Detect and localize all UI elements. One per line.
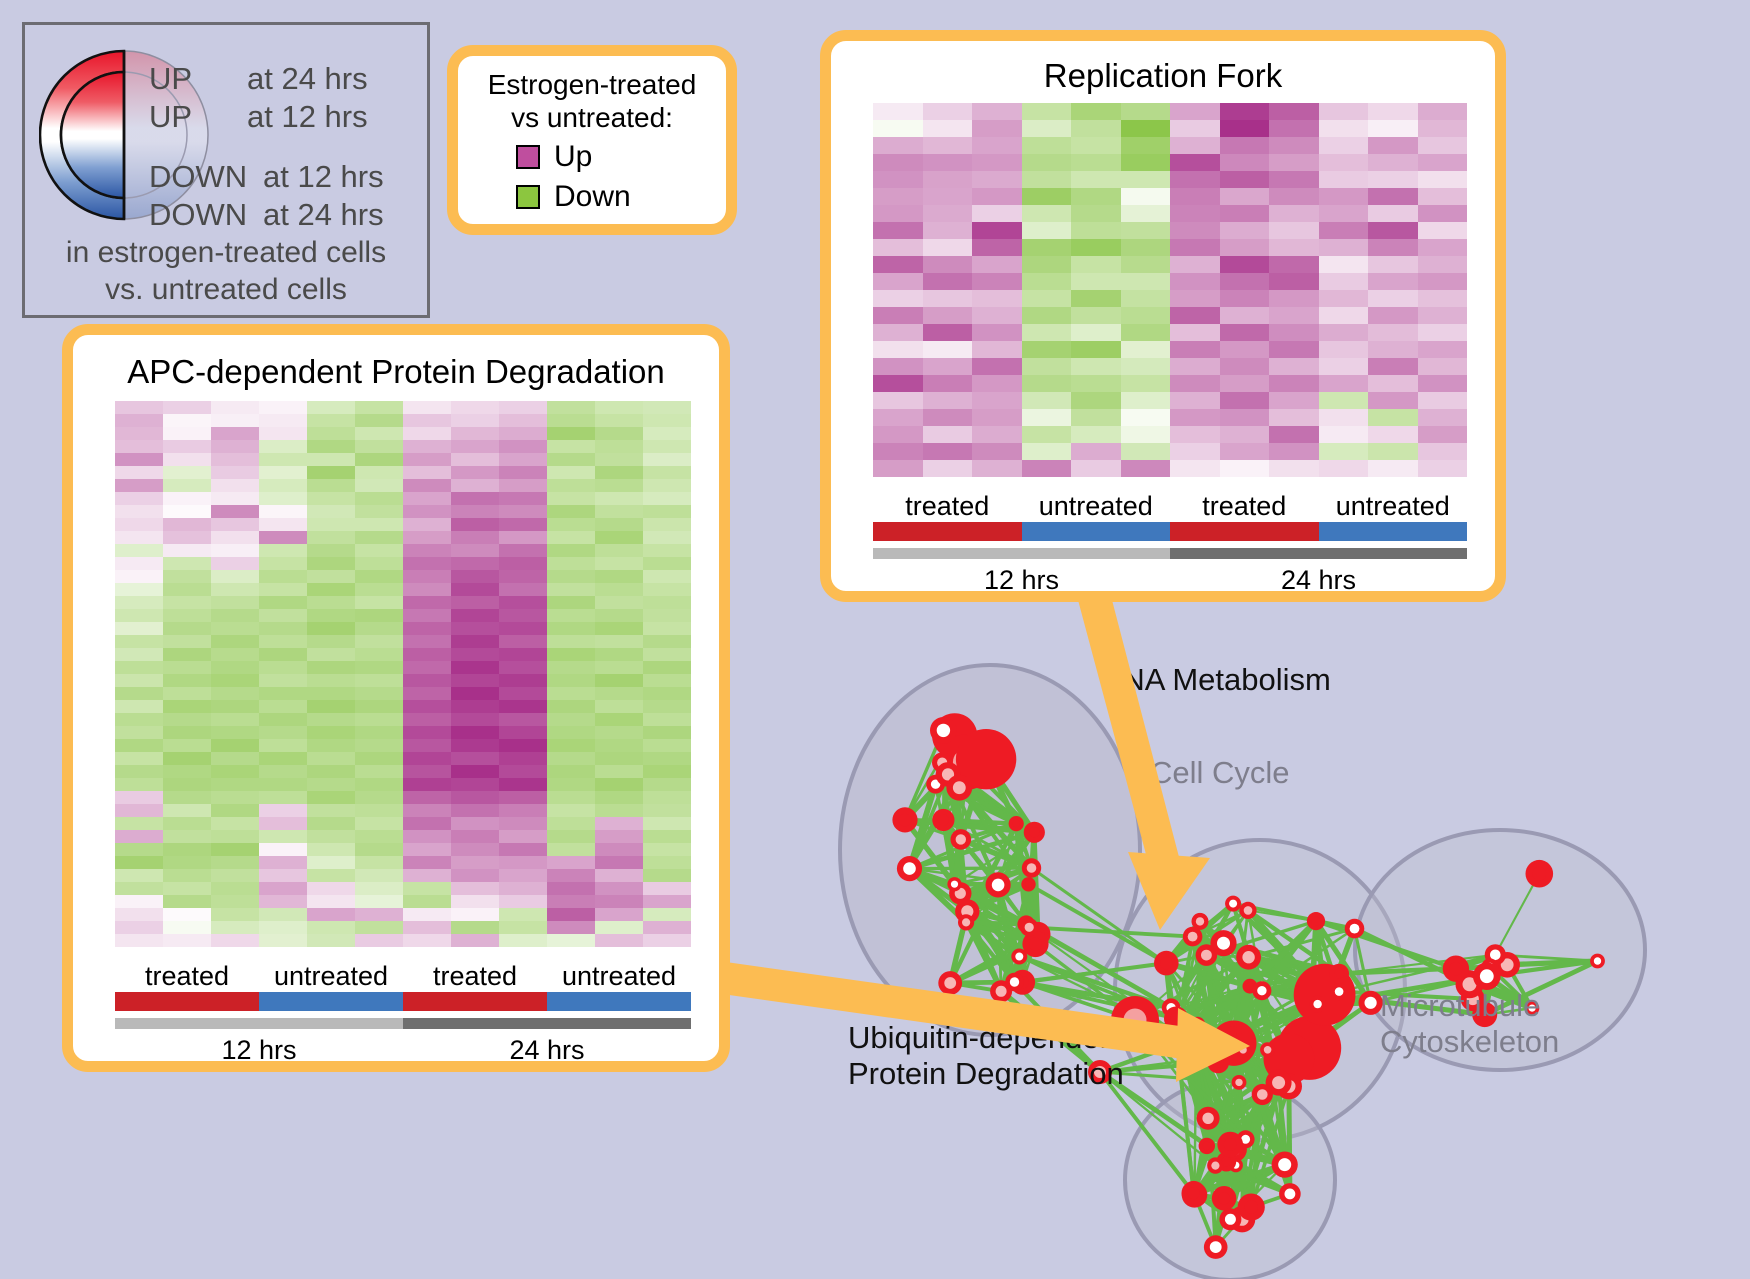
heatmap-cell <box>307 869 355 882</box>
heatmap-cell <box>547 726 595 739</box>
heatmap-cell <box>499 843 547 856</box>
heatmap-cell <box>211 622 259 635</box>
network-node-core <box>1172 1039 1182 1049</box>
heatmap-cell <box>115 414 163 427</box>
heatmap-cell <box>1368 137 1418 154</box>
heatmap-cell <box>211 414 259 427</box>
heatmap-cell <box>211 427 259 440</box>
column-group-label: untreated <box>1022 491 1171 522</box>
figure-canvas: UP at 24 hrs UP at 12 hrs DOWN at 12 hrs… <box>0 0 1750 1279</box>
network-node-core <box>1196 917 1204 925</box>
heatmap-cell <box>355 921 403 934</box>
heatmap-cell <box>499 687 547 700</box>
heatmap-cell <box>355 830 403 843</box>
heatmap-cell <box>1269 188 1319 205</box>
column-group-label: treated <box>403 961 547 992</box>
heatmap-cell <box>1319 137 1369 154</box>
network-node-core <box>1272 1076 1285 1089</box>
heatmap-cell <box>211 778 259 791</box>
heatmap-cell <box>923 358 973 375</box>
heatmap-cell <box>115 401 163 414</box>
heatmap-cell <box>923 205 973 222</box>
heatmap-cell <box>1170 290 1220 307</box>
heatmap-cell <box>163 505 211 518</box>
heatmap-cell <box>547 596 595 609</box>
heatmap-cell <box>873 273 923 290</box>
heatmap-cell <box>1269 256 1319 273</box>
heatmap-cell <box>547 609 595 622</box>
heatmap-cell <box>499 778 547 791</box>
heatmap-cell <box>547 934 595 947</box>
network-node-core <box>1192 1038 1200 1046</box>
heatmap-cell <box>643 791 691 804</box>
heatmap-cell <box>873 103 923 120</box>
heatmap-cell <box>259 544 307 557</box>
heatmap-cell <box>355 453 403 466</box>
column-group-label: untreated <box>547 961 691 992</box>
heatmap-cell <box>1220 103 1270 120</box>
time-group-bar <box>115 1018 403 1029</box>
heatmap-cell <box>547 882 595 895</box>
heatmap-cell <box>595 791 643 804</box>
heatmap-cell <box>115 791 163 804</box>
heatmap-cell <box>643 596 691 609</box>
heatmap-cell <box>595 869 643 882</box>
heatmap-cell <box>115 739 163 752</box>
heatmap-cell <box>1368 290 1418 307</box>
cluster-label-dna-metabolism: DNA Metabolism <box>1100 662 1331 698</box>
heatmap-cell <box>307 531 355 544</box>
heatmap-cell <box>307 739 355 752</box>
heatmap-cell <box>1269 460 1319 477</box>
heatmap-cell <box>499 401 547 414</box>
network-node-core <box>1313 1000 1321 1008</box>
heatmap-cell <box>307 726 355 739</box>
legend-caption: in estrogen-treated cells vs. untreated … <box>25 235 427 308</box>
heatmap-cell <box>1269 341 1319 358</box>
legend-time-1: at 12 hrs <box>247 99 368 135</box>
expression-color-legend: Estrogen-treated vs untreated: Up Down <box>447 45 737 235</box>
heatmap-cell <box>643 570 691 583</box>
heatmap-cell <box>115 544 163 557</box>
heatmap-cell <box>1368 256 1418 273</box>
heatmap-cell <box>451 726 499 739</box>
heatmap-cell <box>499 726 547 739</box>
heatmap-cell <box>499 908 547 921</box>
heatmap-cell <box>595 934 643 947</box>
heatmap-cell <box>1022 239 1072 256</box>
heatmap-cell <box>1418 103 1468 120</box>
heatmap-cell <box>307 687 355 700</box>
heatmap-cell <box>355 596 403 609</box>
heatmap-cell <box>211 908 259 921</box>
heatmap-cell <box>1418 171 1468 188</box>
heatmap-cell <box>547 557 595 570</box>
heatmap-cell <box>643 453 691 466</box>
heatmap-cell <box>972 273 1022 290</box>
heatmap-cell <box>163 934 211 947</box>
network-node-core <box>1225 1214 1236 1225</box>
heatmap-cell <box>1319 460 1369 477</box>
heatmap-cell <box>595 739 643 752</box>
heatmap-cell <box>1022 222 1072 239</box>
network-node-core <box>1029 827 1040 838</box>
heatmap-cell <box>1319 103 1369 120</box>
heatmap-cell <box>499 440 547 453</box>
heatmap-cell <box>163 856 211 869</box>
heatmap-cell <box>1121 154 1171 171</box>
heatmap-cell <box>1121 375 1171 392</box>
heatmap-cell <box>307 752 355 765</box>
heatmap-cell <box>403 453 451 466</box>
heatmap-cell <box>547 440 595 453</box>
network-node-core <box>1228 1031 1237 1040</box>
heatmap-cell <box>307 440 355 453</box>
heatmap-cell <box>211 531 259 544</box>
heatmap-cell <box>115 427 163 440</box>
heatmap-cell <box>403 401 451 414</box>
heatmap-cell <box>403 921 451 934</box>
replication-fork-heatmap <box>873 103 1467 477</box>
heatmap-cell <box>1121 443 1171 460</box>
heatmap-cell <box>259 622 307 635</box>
heatmap-cell <box>1170 171 1220 188</box>
heatmap-cell <box>259 570 307 583</box>
heatmap-cell <box>259 583 307 596</box>
heatmap-cell <box>163 570 211 583</box>
network-node-core <box>1285 1189 1296 1200</box>
heatmap-cell <box>403 869 451 882</box>
heatmap-cell <box>1071 205 1121 222</box>
network-node-core <box>1480 969 1494 983</box>
heatmap-cell <box>499 921 547 934</box>
heatmap-cell <box>643 414 691 427</box>
heatmap-cell <box>163 765 211 778</box>
heatmap-cell <box>211 739 259 752</box>
heatmap-cell <box>211 505 259 518</box>
heatmap-cell <box>1368 341 1418 358</box>
heatmap-cell <box>1170 239 1220 256</box>
heatmap-cell <box>499 882 547 895</box>
heatmap-cell <box>643 401 691 414</box>
cluster-label-microtubule-cytoskeleton: Microtubule Cytoskeleton <box>1380 988 1559 1059</box>
heatmap-cell <box>403 908 451 921</box>
heatmap-cell <box>115 921 163 934</box>
heatmap-cell <box>873 154 923 171</box>
heatmap-cell <box>163 492 211 505</box>
heatmap-cell <box>1220 392 1270 409</box>
heatmap-cell <box>403 583 451 596</box>
heatmap-cell <box>451 570 499 583</box>
heatmap-cell <box>643 921 691 934</box>
heatmap-cell <box>451 492 499 505</box>
heatmap-cell <box>595 505 643 518</box>
heatmap-cell <box>499 869 547 882</box>
network-node-core <box>1211 1162 1219 1170</box>
heatmap-cell <box>595 700 643 713</box>
heatmap-cell <box>1418 460 1468 477</box>
heatmap-cell <box>1170 307 1220 324</box>
heatmap-cell <box>1220 324 1270 341</box>
heatmap-cell <box>595 440 643 453</box>
heatmap-cell <box>1022 256 1072 273</box>
heatmap-cell <box>1368 239 1418 256</box>
heatmap-cell <box>115 700 163 713</box>
heatmap-cell <box>1022 341 1072 358</box>
heatmap-cell <box>595 622 643 635</box>
heatmap-cell <box>259 817 307 830</box>
network-node-core <box>937 724 950 737</box>
heatmap-cell <box>923 188 973 205</box>
heatmap-cell <box>923 307 973 324</box>
heatmap-cell <box>1319 426 1369 443</box>
heatmap-cell <box>547 830 595 843</box>
heatmap-cell <box>163 895 211 908</box>
heatmap-cell <box>163 648 211 661</box>
network-node-core <box>1264 1046 1272 1054</box>
heatmap-cell <box>972 205 1022 222</box>
heatmap-cell <box>451 479 499 492</box>
heatmap-cell <box>163 739 211 752</box>
heatmap-cell <box>355 479 403 492</box>
heatmap-cell <box>451 505 499 518</box>
heatmap-cell <box>403 752 451 765</box>
heatmap-cell <box>211 557 259 570</box>
heatmap-cell <box>115 687 163 700</box>
heatmap-cell <box>1121 290 1171 307</box>
heatmap-cell <box>211 934 259 947</box>
heatmap-cell <box>451 765 499 778</box>
heatmap-cell <box>115 674 163 687</box>
heatmap-cell <box>643 908 691 921</box>
network-node-core <box>1594 957 1601 964</box>
heatmap-cell <box>307 921 355 934</box>
heatmap-cell <box>403 765 451 778</box>
heatmap-cell <box>1170 443 1220 460</box>
heatmap-cell <box>972 290 1022 307</box>
heatmap-cell <box>1269 205 1319 222</box>
heatmap-cell <box>115 622 163 635</box>
network-node-core <box>1242 951 1254 963</box>
replication-fork-column-groups: treateduntreatedtreateduntreated <box>873 491 1467 541</box>
heatmap-cell <box>1269 409 1319 426</box>
heatmap-cell <box>307 804 355 817</box>
heatmap-cell <box>115 869 163 882</box>
network-node-core <box>1025 923 1034 932</box>
heatmap-cell <box>451 466 499 479</box>
heatmap-cell <box>451 778 499 791</box>
heatmap-cell <box>1319 290 1369 307</box>
heatmap-cell <box>163 479 211 492</box>
column-group-bar <box>1170 522 1319 541</box>
heatmap-cell <box>972 443 1022 460</box>
heatmap-cell <box>451 869 499 882</box>
heatmap-cell <box>1319 273 1369 290</box>
heatmap-cell <box>1418 426 1468 443</box>
heatmap-cell <box>873 409 923 426</box>
heatmap-cell <box>259 895 307 908</box>
heatmap-cell <box>547 531 595 544</box>
heatmap-cell <box>873 256 923 273</box>
heatmap-cell <box>259 726 307 739</box>
heatmap-cell <box>1170 341 1220 358</box>
heatmap-cell <box>163 687 211 700</box>
replication-fork-timepoints: 12 hrs24 hrs <box>873 548 1467 596</box>
heatmap-cell <box>451 700 499 713</box>
heatmap-cell <box>355 518 403 531</box>
heatmap-cell <box>499 544 547 557</box>
heatmap-cell <box>1220 273 1270 290</box>
heatmap-cell <box>355 401 403 414</box>
heatmap-cell <box>259 505 307 518</box>
heatmap-cell <box>355 531 403 544</box>
heatmap-cell <box>115 726 163 739</box>
heatmap-cell <box>403 531 451 544</box>
heatmap-cell <box>259 843 307 856</box>
heatmap-cell <box>451 401 499 414</box>
network-node-core <box>1224 1138 1237 1151</box>
network-node-core <box>1235 1079 1242 1086</box>
heatmap-cell <box>259 453 307 466</box>
heatmap-cell <box>1121 256 1171 273</box>
heatmap-cell <box>1121 409 1171 426</box>
heatmap-cell <box>259 518 307 531</box>
network-node-core <box>1194 1021 1202 1029</box>
heatmap-cell <box>259 635 307 648</box>
heatmap-cell <box>873 205 923 222</box>
heatmap-cell <box>923 222 973 239</box>
network-node-core <box>899 814 912 827</box>
heatmap-cell <box>1071 392 1121 409</box>
column-group-bar <box>1022 522 1171 541</box>
heatmap-cell <box>1418 307 1468 324</box>
heatmap-cell <box>643 882 691 895</box>
heatmap-cell <box>595 674 643 687</box>
heatmap-cell <box>873 443 923 460</box>
heatmap-cell <box>259 466 307 479</box>
heatmap-cell <box>307 635 355 648</box>
heatmap-cell <box>115 752 163 765</box>
heatmap-cell <box>163 843 211 856</box>
heatmap-cell <box>547 622 595 635</box>
heatmap-cell <box>307 453 355 466</box>
heatmap-cell <box>1368 409 1418 426</box>
heatmap-cell <box>451 544 499 557</box>
heatmap-cell <box>595 882 643 895</box>
heatmap-cell <box>451 674 499 687</box>
heatmap-cell <box>1269 392 1319 409</box>
heatmap-cell <box>643 726 691 739</box>
heatmap-cell <box>163 713 211 726</box>
heatmap-cell <box>403 687 451 700</box>
heatmap-cell <box>115 440 163 453</box>
heatmap-cell <box>972 239 1022 256</box>
heatmap-cell <box>451 596 499 609</box>
network-node-core <box>1213 1057 1224 1068</box>
heatmap-cell <box>211 882 259 895</box>
heatmap-cell <box>403 791 451 804</box>
heatmap-cell <box>1418 358 1468 375</box>
heatmap-cell <box>1319 171 1369 188</box>
network-node-core <box>1244 906 1253 915</box>
network-node-core <box>1170 1013 1182 1025</box>
heatmap-cell <box>923 239 973 256</box>
heatmap-cell <box>211 674 259 687</box>
legend-item-down-label: Down <box>554 180 631 214</box>
apc-heatmap <box>115 401 691 947</box>
heatmap-cell <box>643 830 691 843</box>
heatmap-cell <box>1418 222 1468 239</box>
heatmap-cell <box>873 239 923 256</box>
heatmap-cell <box>547 687 595 700</box>
heatmap-cell <box>1121 205 1171 222</box>
heatmap-cell <box>923 273 973 290</box>
heatmap-cell <box>259 427 307 440</box>
heatmap-cell <box>873 307 923 324</box>
heatmap-cell <box>1121 426 1171 443</box>
heatmap-cell <box>595 531 643 544</box>
heatmap-cell <box>403 726 451 739</box>
heatmap-cell <box>643 505 691 518</box>
heatmap-cell <box>873 120 923 137</box>
heatmap-cell <box>211 648 259 661</box>
heatmap-cell <box>163 440 211 453</box>
heatmap-cell <box>547 700 595 713</box>
heatmap-cell <box>259 557 307 570</box>
down-color-swatch <box>516 185 540 209</box>
network-node-core <box>1257 986 1266 995</box>
heatmap-cell <box>499 570 547 583</box>
heatmap-cell <box>595 843 643 856</box>
heatmap-cell <box>115 895 163 908</box>
heatmap-cell <box>355 427 403 440</box>
heatmap-cell <box>547 635 595 648</box>
heatmap-cell <box>923 290 973 307</box>
heatmap-cell <box>873 426 923 443</box>
heatmap-cell <box>643 778 691 791</box>
heatmap-cell <box>547 427 595 440</box>
heatmap-cell <box>1022 205 1072 222</box>
heatmap-cell <box>163 414 211 427</box>
heatmap-cell <box>307 557 355 570</box>
heatmap-cell <box>643 557 691 570</box>
network-node-core <box>956 834 966 844</box>
heatmap-cell <box>1220 443 1270 460</box>
heatmap-cell <box>115 856 163 869</box>
time-group-label: 24 hrs <box>403 1029 691 1066</box>
time-group-bar <box>873 548 1170 559</box>
apc-title: APC-dependent Protein Degradation <box>73 353 719 391</box>
heatmap-cell <box>451 895 499 908</box>
heatmap-cell <box>211 804 259 817</box>
heatmap-cell <box>307 492 355 505</box>
heatmap-cell <box>595 635 643 648</box>
heatmap-cell <box>451 622 499 635</box>
heatmap-cell <box>972 188 1022 205</box>
heatmap-cell <box>1121 137 1171 154</box>
heatmap-cell <box>355 583 403 596</box>
heatmap-cell <box>451 687 499 700</box>
heatmap-cell <box>972 426 1022 443</box>
heatmap-cell <box>259 401 307 414</box>
heatmap-cell <box>1220 171 1270 188</box>
heatmap-cell <box>259 531 307 544</box>
heatmap-cell <box>307 466 355 479</box>
heatmap-cell <box>923 103 973 120</box>
heatmap-cell <box>403 700 451 713</box>
heatmap-cell <box>355 687 403 700</box>
heatmap-cell <box>595 648 643 661</box>
